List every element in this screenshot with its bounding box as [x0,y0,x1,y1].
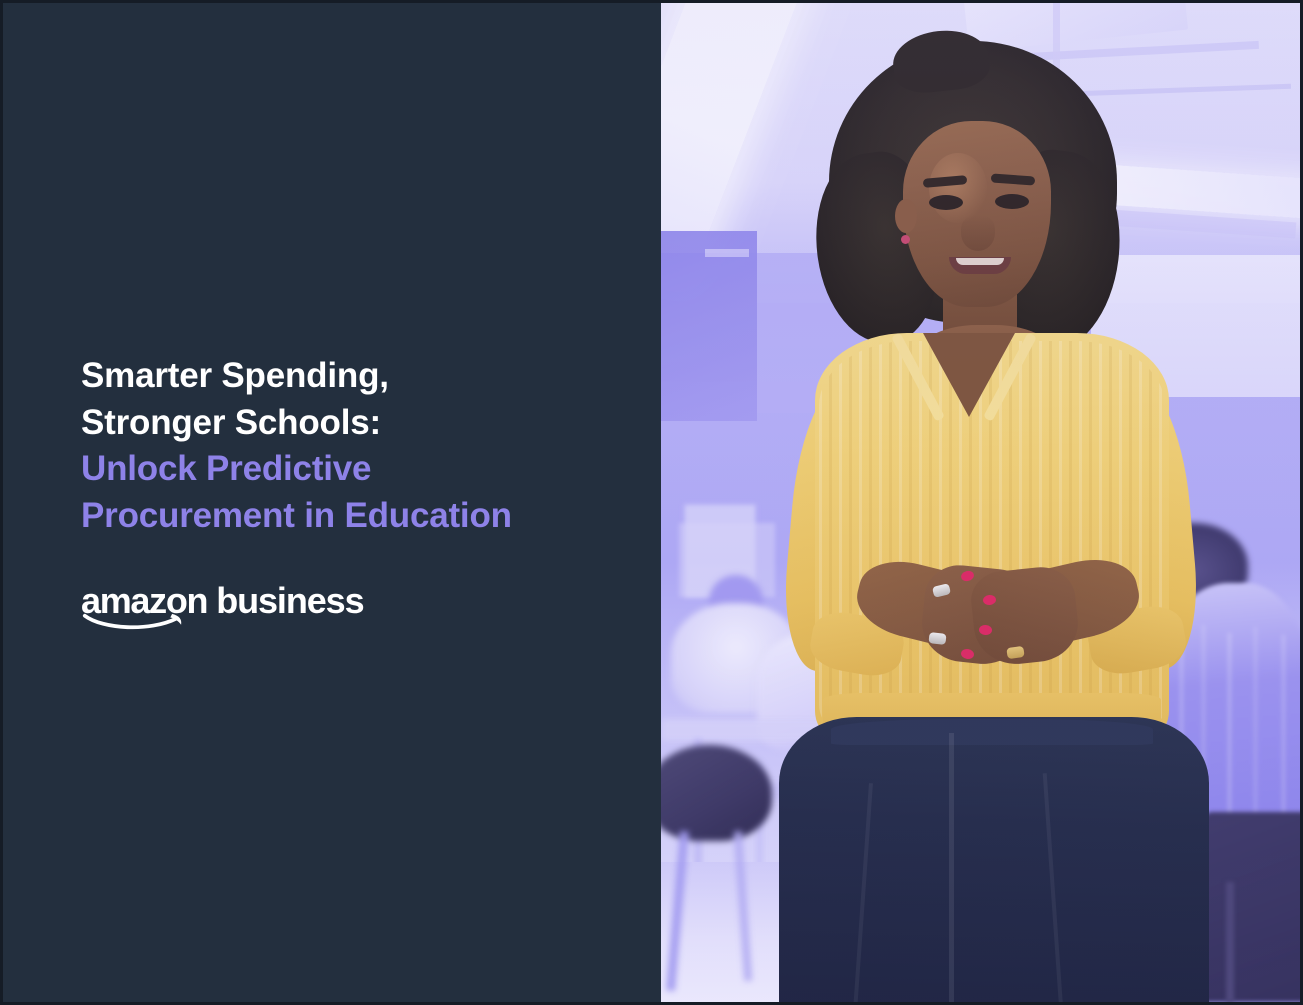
navy-skirt [779,717,1209,1002]
skirt-waistband [831,719,1153,745]
headline-line-1: Smarter Spending, [81,353,621,400]
teacher-eye-right [995,194,1029,209]
teacher-nose [961,215,995,251]
left-text-panel: Smarter Spending, Stronger Schools: Unlo… [3,3,661,1002]
logo-business-text: business [216,583,363,619]
amazon-business-logo: amazon business [81,583,381,633]
cover-photo [661,3,1303,1002]
teacher-ear [895,199,917,233]
skirt-fold [949,733,954,1002]
teacher-earring [901,235,910,244]
headline-group: Smarter Spending, Stronger Schools: Unlo… [81,353,621,539]
photo-stage [661,3,1303,1002]
silver-ring-2 [928,632,946,645]
logo-row: amazon business [81,583,381,619]
teacher-eye-left [929,195,963,210]
teacher-smile [949,257,1011,274]
headline-line-3: Unlock Predictive [81,446,621,493]
ebook-cover: Smarter Spending, Stronger Schools: Unlo… [0,0,1303,1005]
amazon-smile-arrow-icon [83,612,191,632]
headline-line-2: Stronger Schools: [81,400,621,447]
teacher-figure [661,3,1303,1002]
teacher-face-highlight [929,153,987,223]
logo-amazon-wordmark: amazon [81,583,207,619]
headline-line-4: Procurement in Education [81,493,621,540]
page-title: Smarter Spending, Stronger Schools: Unlo… [81,353,621,539]
